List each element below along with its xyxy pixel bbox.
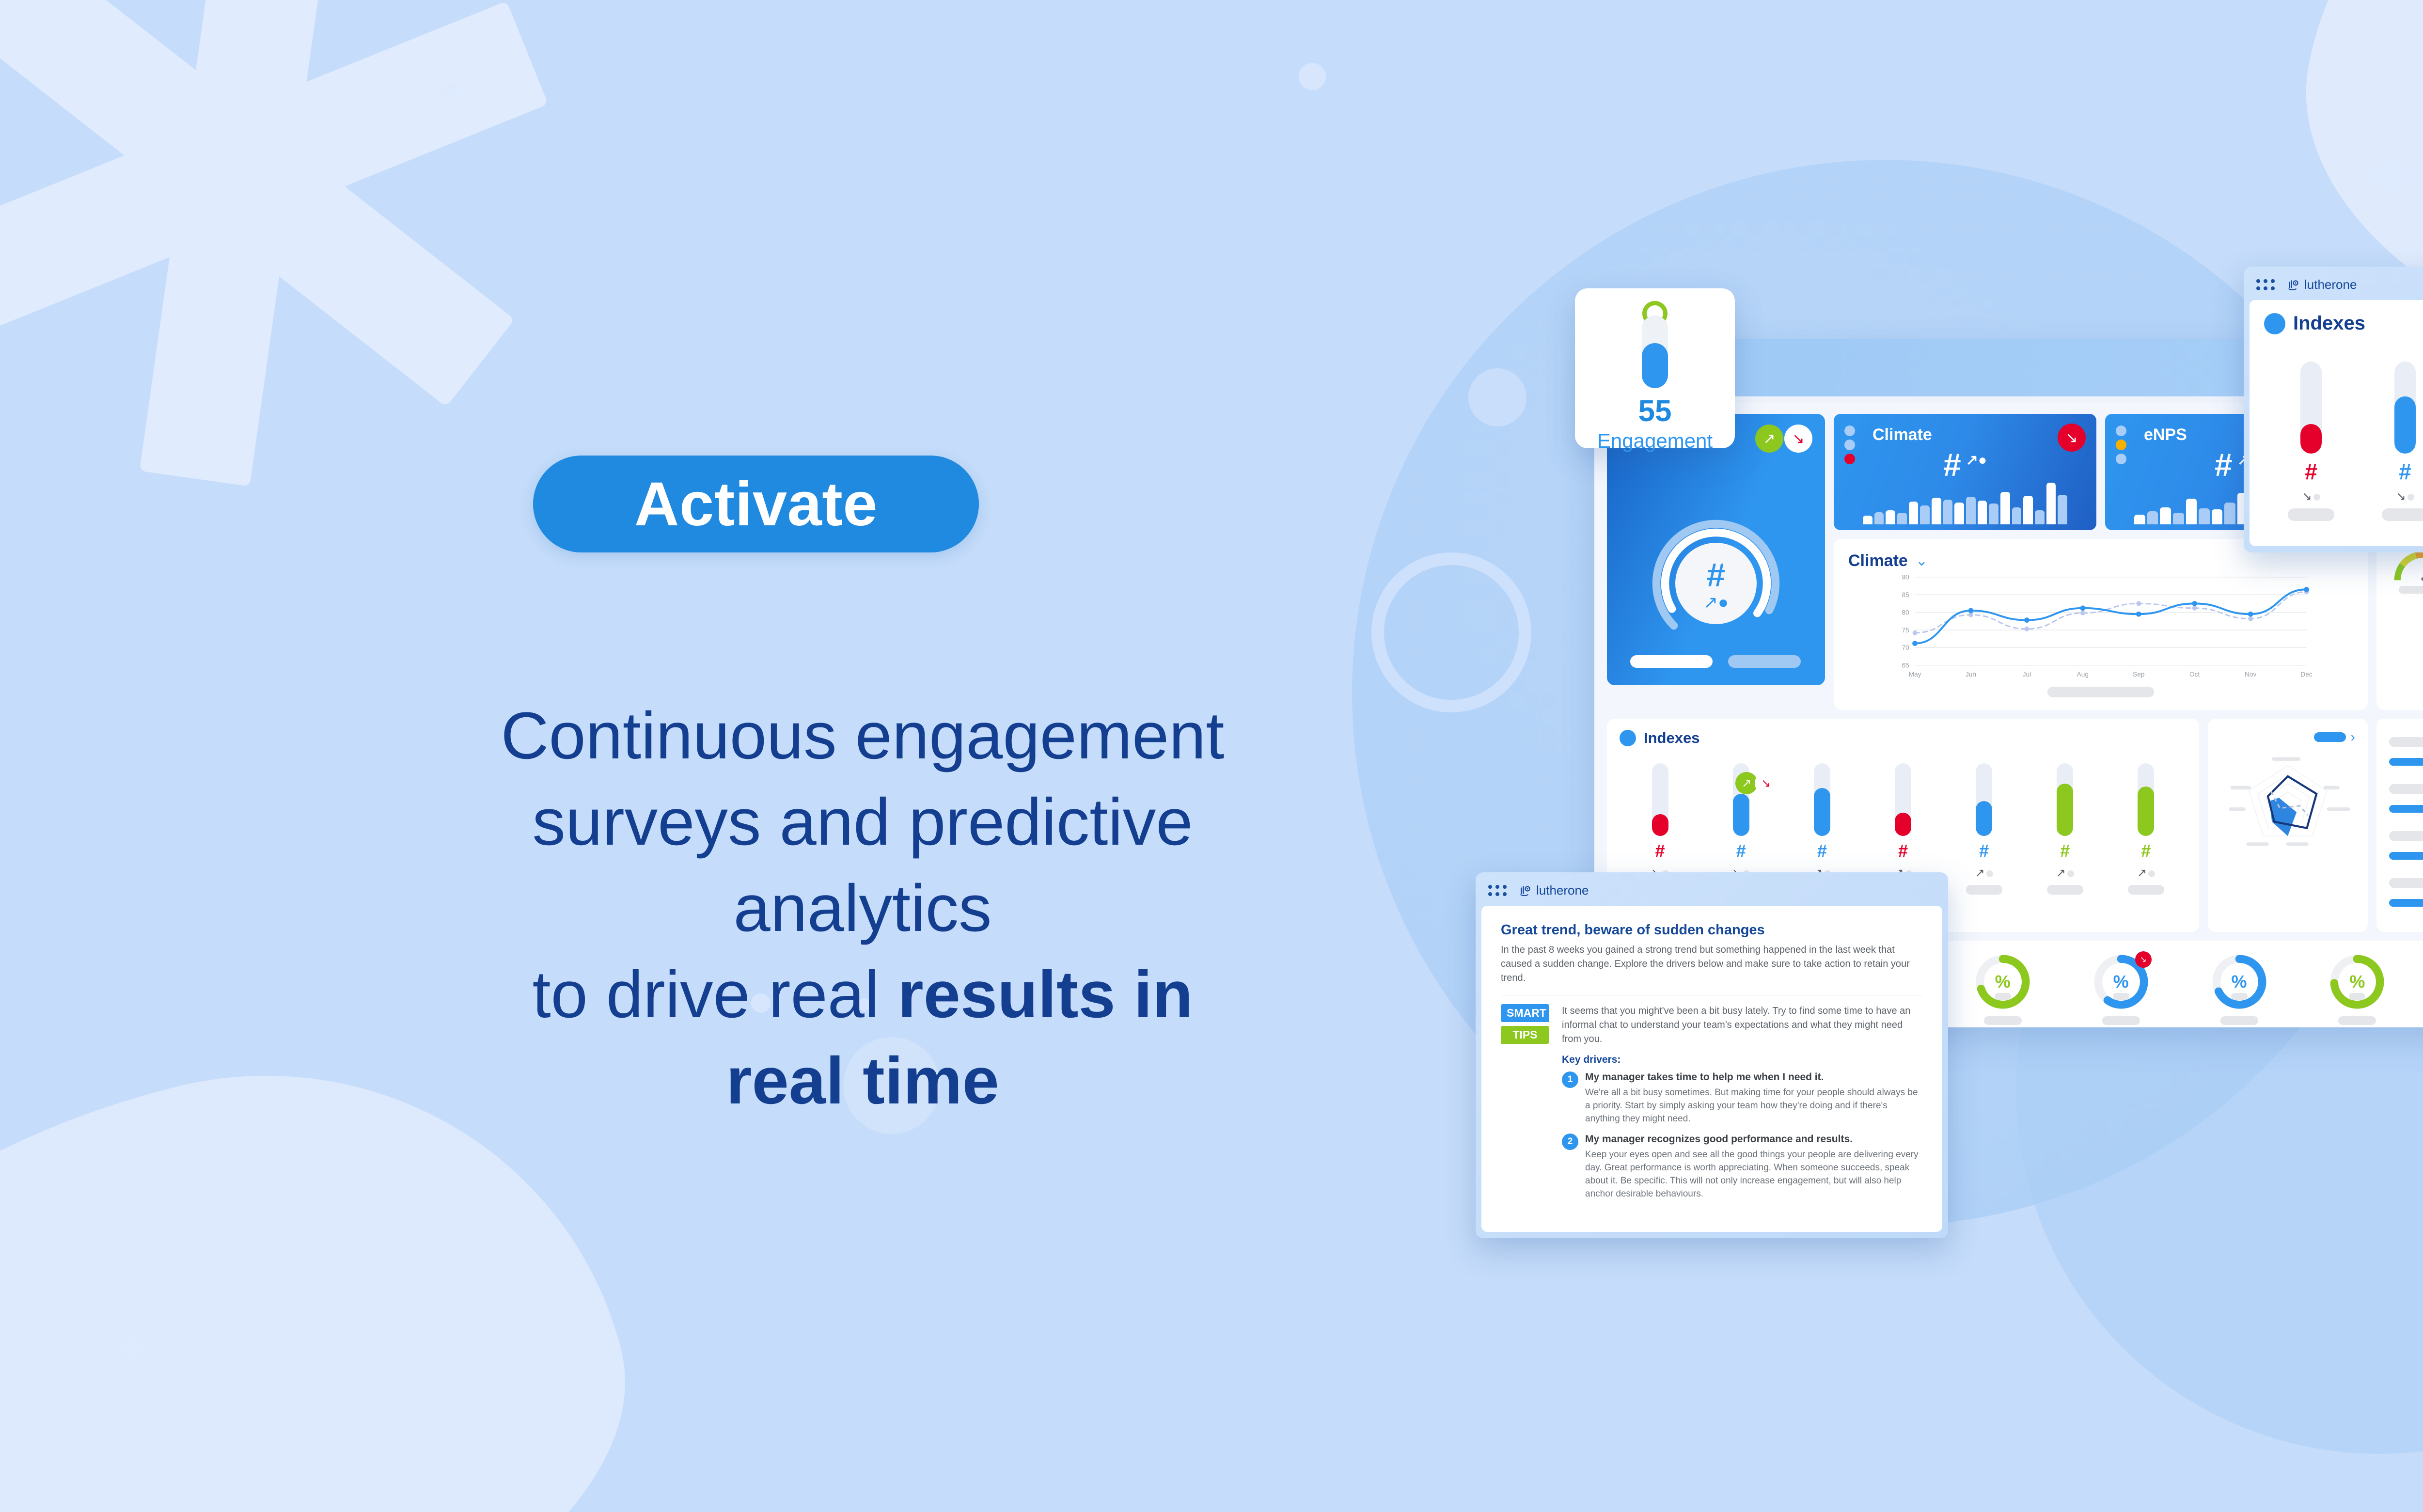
- engagement-label: Engagement: [1575, 429, 1735, 453]
- chevron-down-icon[interactable]: ⌄: [1916, 552, 1928, 569]
- index-hash: #: [1898, 841, 1908, 861]
- indexes-label: Indexes: [1644, 729, 1699, 747]
- svg-text:Jul: Jul: [2023, 671, 2031, 678]
- thermometer-fill: [1652, 814, 1668, 836]
- smart-tag: SMART: [1501, 1004, 1549, 1022]
- trend-up-badge: ↗: [1755, 425, 1783, 453]
- svg-text:Jun: Jun: [1966, 671, 1976, 678]
- deco-ring-2: [431, 78, 460, 107]
- donut-label-skeleton: [1984, 1016, 2022, 1025]
- alert-down-badge: ↘: [2058, 424, 2086, 452]
- trend-down-badge: ↘: [1784, 425, 1812, 453]
- index-skeleton: [2382, 508, 2423, 521]
- index-thermometer[interactable]: #↗: [1966, 763, 2002, 895]
- svg-text:Oct: Oct: [2189, 671, 2200, 678]
- donut-item[interactable]: %↘: [2093, 953, 2150, 1025]
- chart-title: Climate: [1848, 551, 1908, 570]
- driver-heading: My manager takes time to help me when I …: [1585, 1071, 1923, 1083]
- donut-trend-badge: ↘: [2135, 951, 2152, 968]
- deco-dot-5: [2375, 160, 2408, 194]
- driver-bar-track: [2389, 899, 2423, 907]
- thermometer-fill: [2138, 787, 2154, 836]
- driver-head: # ↗: [2389, 825, 2423, 846]
- climate-sparkbars: [1834, 477, 2096, 530]
- svg-text:Aug: Aug: [2077, 671, 2089, 678]
- climate-line-chart-card: Climate ⌄ 657075808590MayJunJulAugSepOct…: [1834, 539, 2368, 710]
- engagement-bar-icon: [1642, 315, 1668, 388]
- panel-title-indexes: Indexes: [1620, 729, 2187, 747]
- page-headline: Continuous engagement surveys and predic…: [465, 693, 1260, 1124]
- climate-chart-svg: 657075808590MayJunJulAugSepOctNovDec: [1848, 572, 2353, 681]
- index-trend-icon: ↗: [2137, 866, 2155, 880]
- svg-text:Sep: Sep: [2133, 671, 2145, 678]
- driver-bar-fill: [2389, 758, 2423, 766]
- driver-head: # ↗: [2389, 872, 2423, 893]
- donut-skeleton: [2349, 993, 2365, 1000]
- tips-tags: SMART TIPS: [1501, 1004, 1549, 1209]
- index-thermometer[interactable]: #↘: [2288, 362, 2335, 521]
- tip-text: It seems that you might've been a bit bu…: [1562, 1004, 1923, 1046]
- thermometer-track: [1814, 763, 1830, 836]
- status-light-mid-amber: [2116, 440, 2126, 450]
- driver-heading: My manager recognizes good performance a…: [1585, 1134, 1923, 1145]
- driver-bar-fill: [2389, 805, 2423, 813]
- index-hash: #: [2060, 841, 2070, 861]
- apps-grid-icon[interactable]: [2256, 279, 2275, 290]
- lutherone-mark-icon: [1519, 884, 1532, 897]
- thermometer-fill: [1814, 788, 1830, 836]
- svg-text:May: May: [1909, 671, 1921, 678]
- driver-label-skeleton: [2389, 831, 2423, 841]
- thermometer-track: [2394, 362, 2416, 454]
- driver-bar-track: [2389, 852, 2423, 860]
- index-hash: #: [2305, 458, 2317, 485]
- engagement-value: 55: [1575, 394, 1735, 428]
- headline-line-2: surveys and predictive analytics: [465, 779, 1260, 952]
- deco-ring-1: [1371, 552, 1531, 712]
- hero-copy: Activate Continuous engagement surveys a…: [533, 456, 1328, 1124]
- risk-gauge-row-2: [2389, 598, 2423, 644]
- driver-head: # ↘: [2389, 778, 2423, 799]
- indexes-window-body: Indexes #↘#↘#↗#↗ ↗ ↘: [2250, 300, 2423, 546]
- status-light-top: [2116, 425, 2126, 436]
- thermometer-fill: [1976, 801, 1992, 836]
- tips-title: Great trend, beware of sudden changes: [1501, 922, 1923, 938]
- donut-value: %: [2211, 953, 2268, 1010]
- driver-row[interactable]: # ↗: [2389, 825, 2423, 860]
- kpi-title-climate: Climate: [1872, 425, 2083, 444]
- window-chrome: lutherone: [2250, 272, 2423, 300]
- index-hash: #: [1655, 841, 1665, 861]
- index-hash: #: [1979, 841, 1989, 861]
- driver-number: 1: [1562, 1071, 1578, 1088]
- key-drivers-label: Key drivers:: [1562, 1054, 1923, 1066]
- driver-row[interactable]: # ↗: [2389, 872, 2423, 907]
- tips-driver-items: 1My manager takes time to help me when I…: [1562, 1071, 1923, 1201]
- tips-content: It seems that you might've been a bit bu…: [1562, 1004, 1923, 1209]
- donut-item[interactable]: %: [2211, 953, 2268, 1025]
- thermometer-track: [2057, 763, 2073, 836]
- trend-down-badge: ↘: [1755, 772, 1777, 794]
- svg-text:75: 75: [1902, 627, 1910, 634]
- indexes-window-label: Indexes: [2293, 313, 2365, 334]
- svg-text:Dec: Dec: [2300, 671, 2312, 678]
- svg-text:↗●: ↗●: [1703, 592, 1729, 612]
- bullet-icon: [2264, 313, 2285, 334]
- kpi-skeleton-faded: [1728, 655, 1801, 668]
- thermometer-track: [1976, 763, 1992, 836]
- kpi-skeleton-white: [1630, 655, 1713, 668]
- deco-dot-1: [1299, 63, 1326, 90]
- panel-radar[interactable]: ›: [2208, 719, 2368, 932]
- driver-row[interactable]: # ↘: [2389, 731, 2423, 766]
- donut-value: %: [1974, 953, 2031, 1010]
- panel-title-indexes-window: Indexes: [2264, 313, 2423, 334]
- index-trend-icon: ↘: [2302, 489, 2320, 504]
- panel-drivers[interactable]: # ↘# ↘# ↗# ↗: [2376, 719, 2423, 932]
- brand-logo: lutherone: [1519, 883, 1589, 898]
- driver-bar-track: [2389, 758, 2423, 766]
- radar-cta[interactable]: ›: [2314, 729, 2355, 745]
- driver-number: 2: [1562, 1134, 1578, 1150]
- driver-bar-track: [2389, 805, 2423, 813]
- index-skeleton: [2288, 508, 2335, 521]
- svg-text:90: 90: [1902, 574, 1910, 581]
- drivers-list: # ↘# ↘# ↗# ↗: [2389, 731, 2423, 907]
- driver-body: Keep your eyes open and see all the good…: [1585, 1149, 1923, 1201]
- asterisk-shape-icon: [0, 0, 562, 494]
- chevron-right-icon[interactable]: ›: [2351, 729, 2355, 745]
- driver-label-skeleton: [2389, 737, 2423, 747]
- driver-text: My manager takes time to help me when I …: [1585, 1071, 1923, 1126]
- thermometer-fill: [2394, 396, 2416, 454]
- status-lights-enps: [2116, 425, 2126, 464]
- thermometer-fill: [1895, 813, 1911, 836]
- headline-line-3: to drive real results in real time: [465, 952, 1260, 1124]
- tips-driver-item: 2My manager recognizes good performance …: [1562, 1134, 1923, 1201]
- index-trend-icon: ↗: [2056, 866, 2074, 880]
- donut-gauge: %↘: [2093, 953, 2150, 1010]
- driver-body: We're all a bit busy sometimes. But maki…: [1585, 1087, 1923, 1126]
- tips-body: Great trend, beware of sudden changes In…: [1481, 906, 1942, 1232]
- donut-skeleton: [2113, 993, 2129, 1000]
- driver-bar-fill: [2389, 852, 2423, 860]
- thermometer-track: [2138, 763, 2154, 836]
- index-skeleton: [2128, 885, 2164, 895]
- thermometer-fill: [2300, 424, 2322, 454]
- donut-label-skeleton: [2102, 1016, 2140, 1025]
- bullet-icon: [1620, 730, 1636, 746]
- driver-row[interactable]: # ↘: [2389, 778, 2423, 813]
- index-thermometer[interactable]: #↗: [2128, 763, 2164, 895]
- driver-label-skeleton: [2389, 878, 2423, 888]
- status-lights-climate: [1844, 425, 1855, 464]
- brand-name: lutherone: [1536, 883, 1589, 898]
- tips-intro: In the past 8 weeks you gained a strong …: [1501, 943, 1923, 985]
- donut-gauge: %: [2329, 953, 2386, 1010]
- divider: [1501, 995, 1923, 995]
- risk-gauge-row-1: [2389, 548, 2423, 594]
- lutherone-mark-icon: [2287, 279, 2300, 291]
- index-hash: #: [1817, 841, 1827, 861]
- svg-text:70: 70: [1902, 644, 1910, 651]
- activate-button[interactable]: Activate: [533, 456, 979, 552]
- status-light-bottom-red: [1844, 454, 1855, 464]
- svg-text:65: 65: [1902, 662, 1910, 669]
- index-thermometer[interactable]: #↗: [2047, 763, 2083, 895]
- smart-tips-window[interactable]: lutherone Great trend, beware of sudden …: [1476, 872, 1948, 1238]
- driver-label-skeleton: [2389, 784, 2423, 794]
- donut-item[interactable]: %: [2329, 953, 2386, 1025]
- trend-arrow-icon: ↗●: [1966, 452, 1987, 468]
- status-light-mid: [1844, 440, 1855, 450]
- thermometer-track: [1895, 763, 1911, 836]
- index-trend-icon: ↗: [1975, 866, 1993, 880]
- thermometer-track: [2300, 362, 2322, 454]
- driver-text: My manager recognizes good performance a…: [1585, 1134, 1923, 1201]
- svg-text:85: 85: [1902, 591, 1910, 598]
- driver-bar-fill: [2389, 899, 2423, 907]
- brand-logo: lutherone: [2287, 277, 2357, 292]
- donut-label-skeleton: [2338, 1016, 2376, 1025]
- pill-skeleton: [2314, 732, 2346, 742]
- chart-footer-skeleton: [2047, 687, 2154, 697]
- indexes-app-window[interactable]: lutherone Indexes #↘#↘#↗#↗ ↗ ↘: [2244, 267, 2423, 552]
- donut-gauge: %: [2211, 953, 2268, 1010]
- donut-gauge: %: [1974, 953, 2031, 1010]
- status-light-bottom: [2116, 454, 2126, 464]
- headline-line-1: Continuous engagement: [465, 693, 1260, 779]
- headline-line-3-plain: to drive real: [533, 958, 898, 1032]
- thermometer-track: [1652, 763, 1668, 836]
- gauge-skeleton: [2399, 586, 2423, 594]
- tips-tag: TIPS: [1501, 1026, 1549, 1044]
- svg-text:#: #: [1707, 556, 1725, 594]
- deco-dot-8: [121, 1338, 143, 1360]
- apps-grid-icon[interactable]: [1488, 885, 1507, 896]
- svg-text:Nov: Nov: [2245, 671, 2256, 678]
- tips-block: SMART TIPS It seems that you might've be…: [1501, 1004, 1923, 1209]
- index-hash: #: [2141, 841, 2151, 861]
- radar-chart-icon: [2220, 752, 2355, 863]
- donut-skeleton: [1995, 993, 2011, 1000]
- index-skeleton: [2047, 885, 2083, 895]
- engagement-float-card[interactable]: 55 Engagement: [1575, 288, 1735, 448]
- index-hash: #: [2399, 458, 2411, 485]
- index-trend-icon: ↘: [2396, 489, 2414, 504]
- thermometer-fill: [2057, 784, 2073, 836]
- donut-value: %: [2329, 953, 2386, 1010]
- chart-header[interactable]: Climate ⌄: [1848, 551, 2353, 570]
- indexes-window-thermometer-strip: #↘#↘#↗#↗: [2264, 362, 2423, 521]
- brand-name: lutherone: [2304, 277, 2357, 292]
- kpi-card-engagement[interactable]: ↗ ↘ # ↗●: [1607, 414, 1825, 685]
- donut-skeleton: [2231, 993, 2248, 1000]
- donut-item[interactable]: %: [1974, 953, 2031, 1025]
- kpi-card-climate[interactable]: Climate #↗● ↘: [1834, 414, 2096, 530]
- tips-driver-item: 1My manager takes time to help me when I…: [1562, 1071, 1923, 1126]
- thermometer-fill: [1733, 794, 1749, 836]
- deco-dot-7: [1468, 368, 1526, 426]
- window-chrome: lutherone: [1481, 878, 1942, 906]
- status-light-top: [1844, 425, 1855, 436]
- index-thermometer[interactable]: #↘: [2382, 362, 2423, 521]
- gauge-icon: [2394, 548, 2423, 583]
- engagement-gauge-icon: # ↗●: [1643, 511, 1789, 656]
- svg-text:80: 80: [1902, 609, 1910, 616]
- driver-head: # ↘: [2389, 731, 2423, 752]
- index-skeleton: [1966, 885, 2002, 895]
- index-hash: #: [1736, 841, 1746, 861]
- donut-label-skeleton: [2220, 1016, 2258, 1025]
- risk-gauge: [2394, 548, 2423, 594]
